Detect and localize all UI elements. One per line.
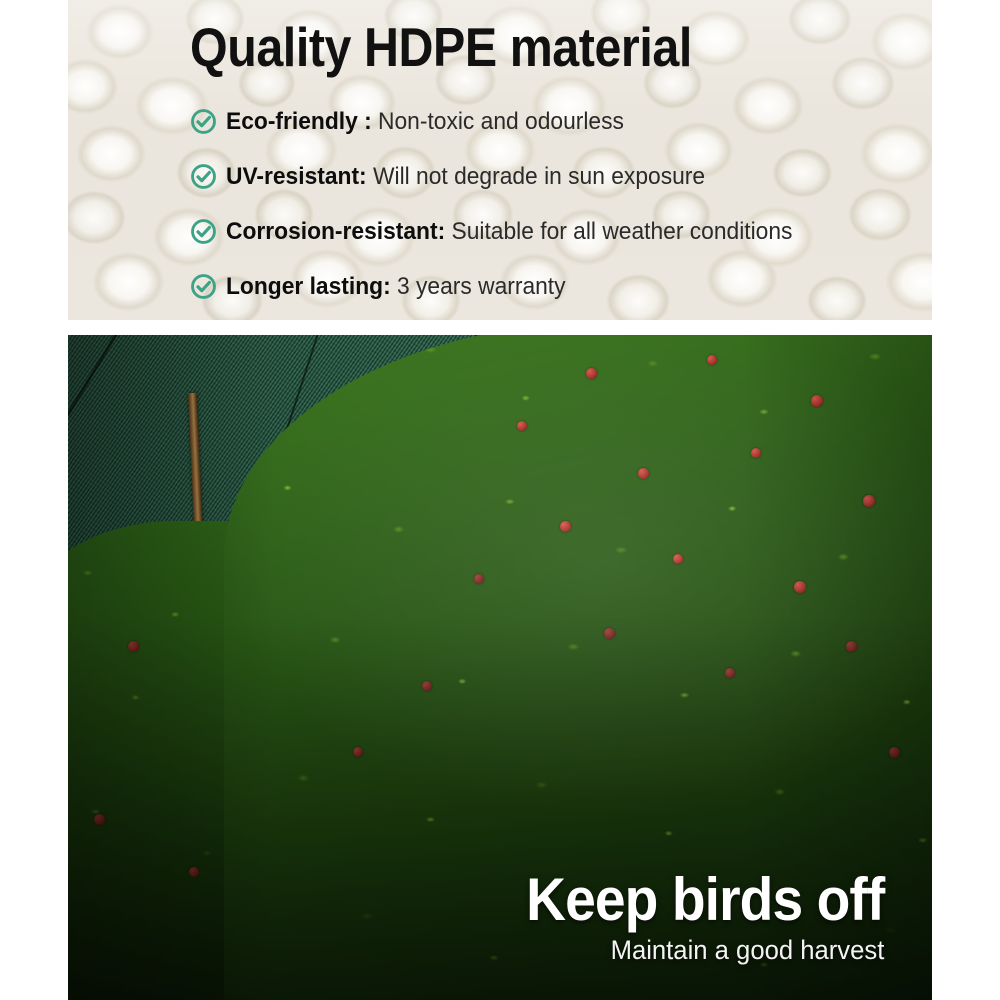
feature-item-eco-friendly: Eco-friendly : Non-toxic and odourless [190, 94, 932, 149]
feature-text: UV-resistant: Will not degrade in sun ex… [226, 163, 705, 190]
feature-label: UV-resistant: [226, 163, 367, 190]
page-title: Quality HDPE material [190, 16, 692, 78]
check-circle-icon [190, 108, 217, 135]
caption-title: Keep birds off [526, 868, 884, 932]
apple-fruit [725, 668, 735, 678]
orchard-photo-panel: Keep birds off Maintain a good harvest [68, 335, 932, 1000]
hdpe-material-panel: Quality HDPE material Eco-friendly : Non… [68, 0, 932, 320]
feature-text: Longer lasting: 3 years warranty [226, 273, 566, 300]
feature-description: 3 years warranty [397, 273, 566, 300]
feature-label: Longer lasting: [226, 273, 391, 300]
apple-fruit [94, 814, 105, 825]
check-circle-icon [190, 163, 217, 190]
caption-subtitle: Maintain a good harvest [514, 934, 884, 966]
apple-fruit [189, 867, 199, 877]
feature-label: Eco-friendly : [226, 108, 372, 135]
feature-item-longer-lasting: Longer lasting: 3 years warranty [190, 259, 932, 314]
feature-text: Eco-friendly : Non-toxic and odourless [226, 108, 624, 135]
feature-text: Corrosion-resistant: Suitable for all we… [226, 218, 792, 245]
apple-fruit [751, 448, 761, 458]
feature-description: Non-toxic and odourless [378, 108, 624, 135]
check-circle-icon [190, 218, 217, 245]
feature-item-corrosion-resistant: Corrosion-resistant: Suitable for all we… [190, 204, 932, 259]
apple-fruit [863, 495, 875, 507]
apple-fruit [422, 681, 432, 691]
apple-fruit [846, 641, 857, 652]
feature-description: Will not degrade in sun exposure [373, 163, 705, 190]
feature-item-uv-resistant: UV-resistant: Will not degrade in sun ex… [190, 149, 932, 204]
check-circle-icon [190, 273, 217, 300]
feature-list: Eco-friendly : Non-toxic and odourless U… [190, 94, 932, 314]
product-marketing-image: Quality HDPE material Eco-friendly : Non… [0, 0, 1000, 1000]
apple-fruit [811, 395, 823, 407]
feature-description: Suitable for all weather conditions [452, 218, 793, 245]
apple-fruit [794, 581, 806, 593]
apple-fruit [604, 628, 615, 639]
feature-label: Corrosion-resistant: [226, 218, 445, 245]
photo-caption: Keep birds off Maintain a good harvest [495, 868, 884, 966]
